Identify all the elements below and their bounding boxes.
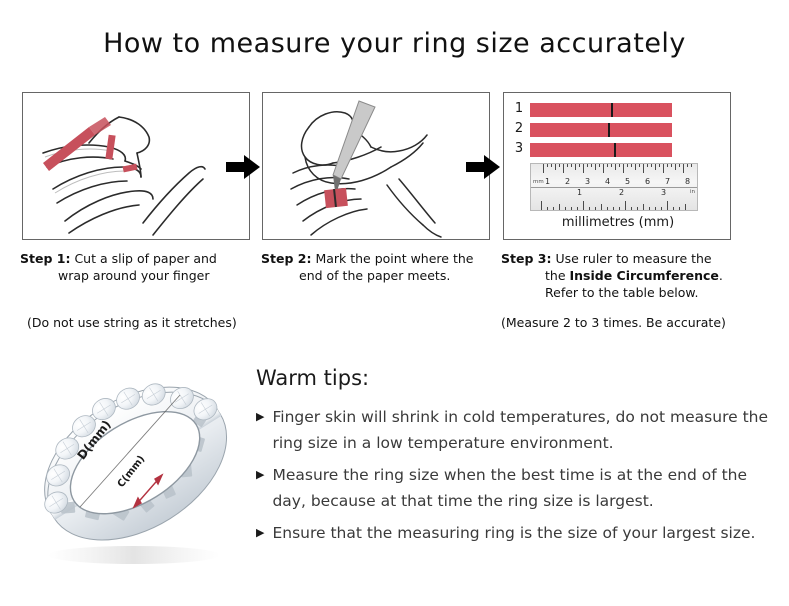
strip-number: 2 [512, 121, 526, 136]
step-3-line2: the Inside Circumference. [501, 267, 763, 284]
page-title: How to measure your ring size accurately [0, 28, 789, 59]
ruler-cm-number: 5 [625, 177, 630, 186]
hand-with-paper-strip-icon [23, 93, 249, 239]
step-3-line3: Refer to the table below. [501, 284, 763, 301]
strip-number: 3 [512, 141, 526, 156]
ruler-cm-number: 2 [565, 177, 570, 186]
ruler-inch-number: 2 [619, 188, 624, 197]
step-2-caption: Step 2: Mark the point where the end of … [261, 250, 493, 284]
ruler-cm-scale: mm [531, 164, 697, 188]
tip-text: Measure the ring size when the best time… [272, 462, 776, 514]
ruler-cm-number: 8 [685, 177, 690, 186]
hand-marking-paper-with-pen-icon [263, 93, 489, 239]
step-2-label: Step 2: [261, 251, 311, 266]
strip-mark-tick [608, 123, 610, 137]
tip-item: ▶ Measure the ring size when the best ti… [256, 462, 776, 514]
step-2-illustration-panel [262, 92, 490, 240]
step-3-line2-prefix: the [545, 268, 570, 283]
triangle-bullet-icon: ▶ [256, 520, 264, 546]
warm-tips-title: Warm tips: [256, 366, 369, 390]
strip-mark-tick [611, 103, 613, 117]
strip-bar [530, 103, 672, 117]
ruler-inch-number: 1 [577, 188, 582, 197]
inside-circumference-emphasis: Inside Circumference [570, 268, 719, 283]
tip-item: ▶ Ensure that the measuring ring is the … [256, 520, 776, 546]
step-3-note: (Measure 2 to 3 times. Be accurate) [501, 315, 726, 330]
strip-bar [530, 123, 672, 137]
triangle-bullet-icon: ▶ [256, 404, 264, 430]
step-2-line2: end of the paper meets. [261, 267, 493, 284]
step-3-line1: Use ruler to measure the [555, 251, 711, 266]
strip-mark-tick [614, 143, 616, 157]
triangle-bullet-icon: ▶ [256, 462, 264, 488]
strip-number: 1 [512, 101, 526, 116]
warm-tips-list: ▶ Finger skin will shrink in cold temper… [256, 404, 776, 552]
ruler-cm-number: 6 [645, 177, 650, 186]
pen-shape [333, 101, 375, 191]
ruler-units-caption: millimetres (mm) [504, 215, 731, 230]
ruler-cm-number: 7 [665, 177, 670, 186]
step-1-line1: Cut a slip of paper and [74, 251, 216, 266]
ruler-cm-number: 4 [605, 177, 610, 186]
arrow-step1-to-step2-icon [224, 152, 262, 182]
tip-text: Ensure that the measuring ring is the si… [272, 520, 755, 546]
ruler-image: mm [530, 163, 698, 211]
step-1-caption: Step 1: Cut a slip of paper and wrap aro… [20, 250, 252, 284]
ruler-inch-scale: in 1 2 3 [531, 187, 697, 210]
ruler-cm-number: 3 [585, 177, 590, 186]
step-3-label: Step 3: [501, 251, 551, 266]
tip-text: Finger skin will shrink in cold temperat… [272, 404, 776, 456]
strip-bar [530, 143, 672, 157]
ruler-inch-number: 3 [661, 188, 666, 197]
arrow-step2-to-step3-icon [464, 152, 502, 182]
step-3-measure-panel: 1 2 3 mm [503, 92, 731, 240]
tip-item: ▶ Finger skin will shrink in cold temper… [256, 404, 776, 456]
step-1-note: (Do not use string as it stretches) [27, 315, 237, 330]
step-3-caption: Step 3: Use ruler to measure the the Ins… [501, 250, 763, 301]
step-2-line1: Mark the point where the [315, 251, 473, 266]
step-1-illustration-panel [22, 92, 250, 240]
step-1-label: Step 1: [20, 251, 70, 266]
ruler-inch-unit-tag: in [690, 189, 695, 195]
marked-paper-strip-shape [324, 188, 348, 208]
ruler-cm-unit-tag: mm [533, 179, 544, 185]
step-1-line2: wrap around your finger [20, 267, 252, 284]
ring-illustration: D(mm) C(mm) [22, 355, 250, 575]
ruler-cm-number: 1 [545, 177, 550, 186]
step-3-line2-suffix: . [719, 268, 723, 283]
